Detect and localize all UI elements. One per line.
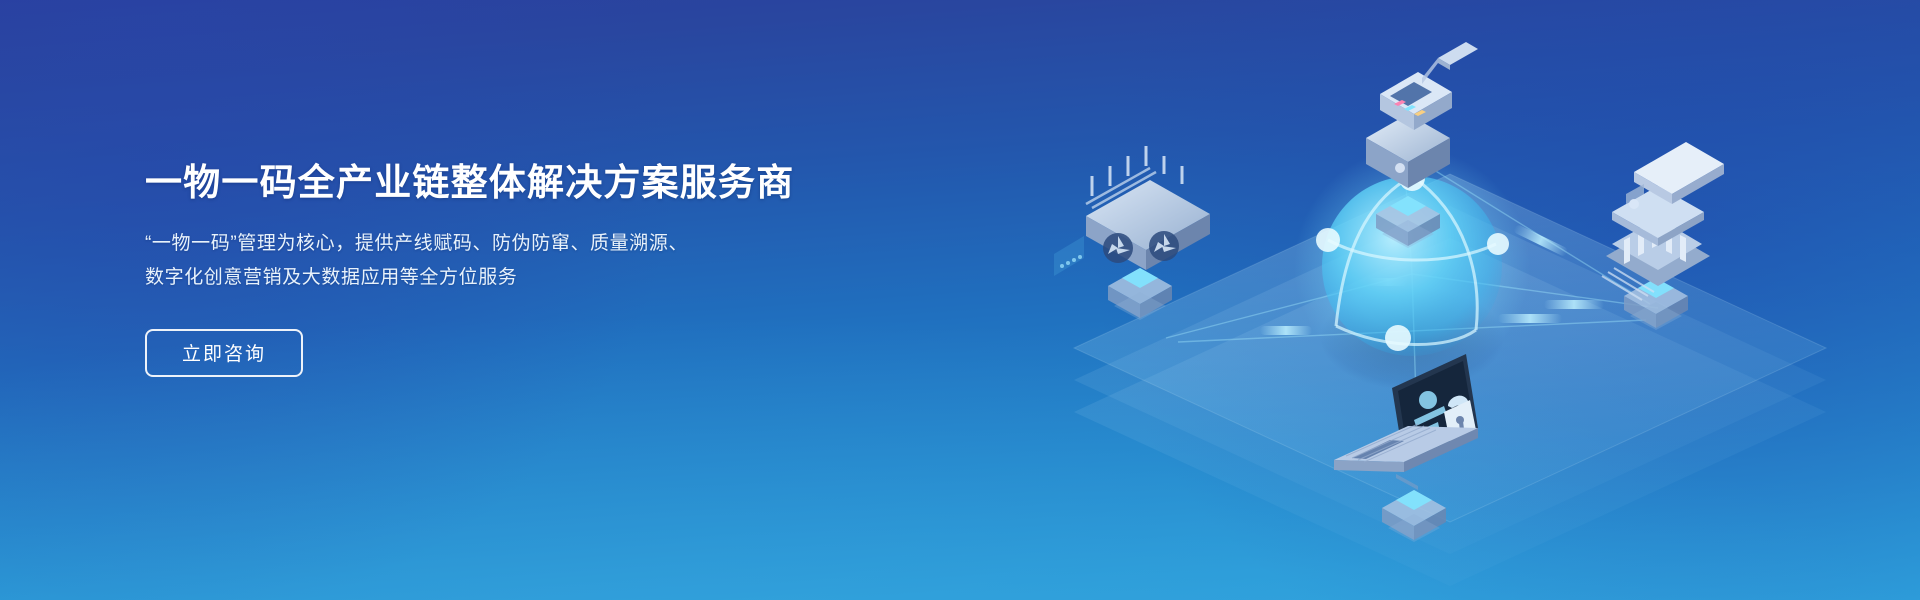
node-server-rack: [1054, 146, 1210, 320]
node-pedestal-bottom: [1382, 490, 1446, 542]
subtitle-line-1: “一物一码”管理为核心，提供产线赋码、防伪防窜、质量溯源、: [145, 227, 905, 261]
hero-copy-block: 一物一码全产业链整体解决方案服务商 “一物一码”管理为核心，提供产线赋码、防伪防…: [145, 160, 905, 377]
node-pedestal-top: [1376, 196, 1440, 248]
page-title: 一物一码全产业链整体解决方案服务商: [145, 160, 905, 207]
background-glow-right: [1080, 0, 1920, 600]
hero-subtitle: “一物一码”管理为核心，提供产线赋码、防伪防窜、质量溯源、 数字化创意营销及大数…: [145, 227, 905, 295]
scanner-beam-icon: [1054, 236, 1084, 276]
node-pedestal-right: [1624, 278, 1688, 330]
network-connectors: [1166, 156, 1658, 460]
server-rack-icon: [1054, 146, 1210, 276]
subtitle-line-2: 数字化创意营销及大数据应用等全方位服务: [145, 261, 905, 295]
node-secure-laptop: [1334, 354, 1478, 542]
data-packet-pulses: [1260, 224, 1604, 335]
pos-terminal-icon: [1366, 42, 1478, 188]
node-bank-building: [1602, 142, 1724, 330]
isometric-network-illustration: [1046, 8, 1920, 592]
laptop-lock-icon: [1334, 354, 1478, 490]
consult-now-button[interactable]: 立即咨询: [145, 329, 303, 377]
glowing-network-sphere: [1294, 148, 1530, 384]
hero-banner: 一物一码全产业链整体解决方案服务商 “一物一码”管理为核心，提供产线赋码、防伪防…: [0, 0, 1920, 600]
bank-building-icon: [1602, 142, 1724, 300]
node-pos-terminal: [1366, 42, 1478, 248]
isometric-glass-platform: [1074, 174, 1826, 586]
node-pedestal-left: [1108, 268, 1172, 320]
sphere-shadow: [1320, 286, 1504, 390]
lock-icon: [1444, 396, 1476, 442]
